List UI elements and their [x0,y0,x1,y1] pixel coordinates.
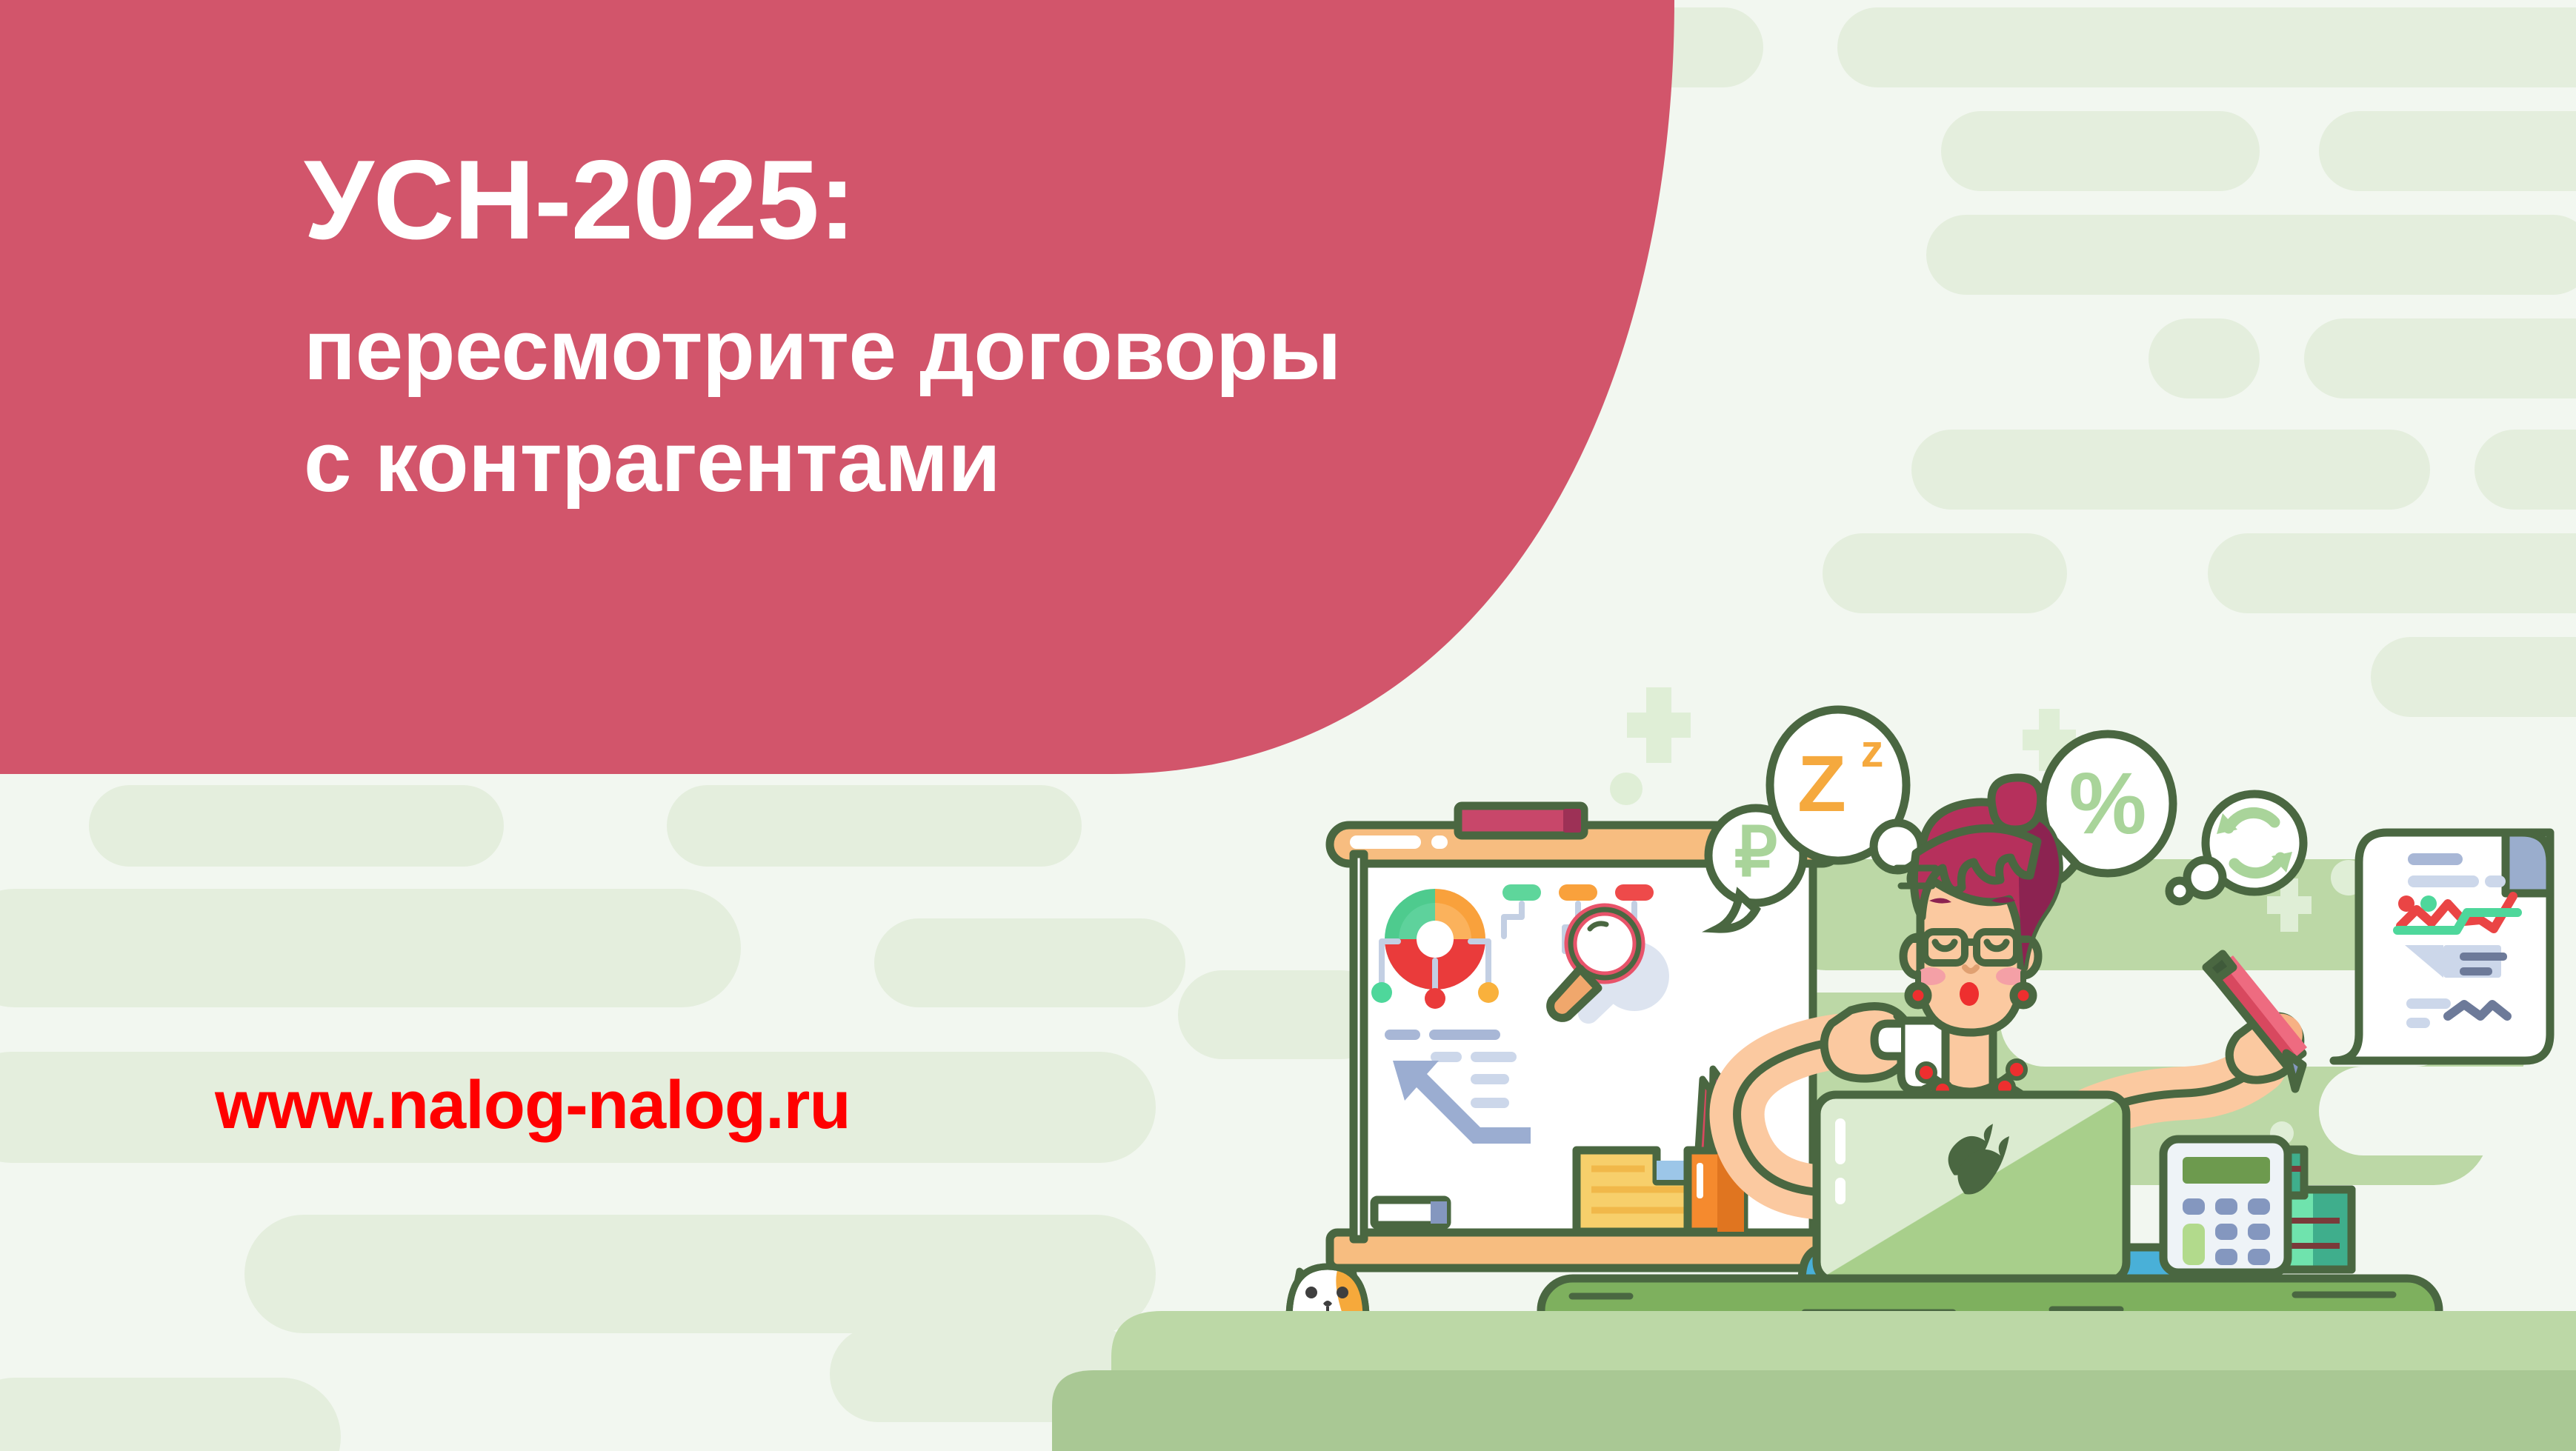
accent-rose-shape [0,0,1674,774]
illustration-scene: ₽ Z z % [0,0,2576,1451]
svg-text:Z: Z [1797,738,1846,828]
ground-dark [1052,1370,2576,1451]
calculator [2163,1139,2288,1272]
laptop [1817,1095,2126,1281]
peeking-cat [1289,1267,1366,1318]
svg-text:z: z [1861,726,1884,777]
report-scroll [2334,833,2550,1061]
svg-text:%: % [2069,755,2147,853]
site-url-text[interactable]: www.nalog-nalog.ru [215,1067,851,1144]
banner-canvas: ₽ Z z % [0,0,2576,1451]
svg-text:₽: ₽ [1734,815,1778,890]
